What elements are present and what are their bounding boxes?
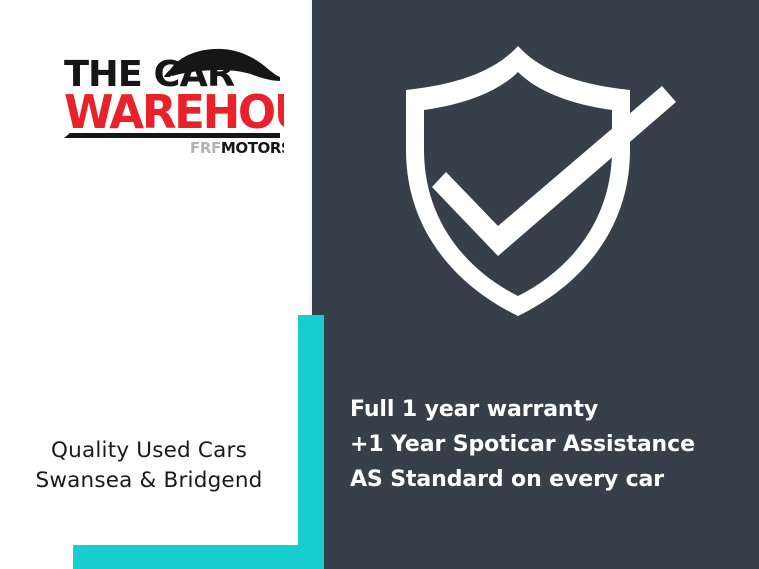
logo-line2: WAREHOUSE (64, 85, 284, 139)
logo-subtext: FRFMOTORS (190, 139, 284, 156)
dealer-promo-banner: THE CAR WAREHOUSE FRFMOTORS THE CAR WARE… (0, 0, 759, 569)
warranty-line-1: Full 1 year warranty (350, 392, 750, 427)
teal-accent-vertical (298, 315, 324, 569)
teal-accent-notch (0, 315, 298, 545)
teal-accent-horizontal (73, 545, 313, 569)
teal-accent-notch-lower (0, 545, 73, 569)
warranty-text: Full 1 year warranty +1 Year Spoticar As… (350, 392, 750, 497)
the-car-warehouse-logo: THE CAR WAREHOUSE FRFMOTORS (64, 38, 284, 156)
warranty-line-2: +1 Year Spoticar Assistance (350, 427, 750, 462)
warranty-line-3: AS Standard on every car (350, 462, 750, 497)
logo-sub-motors: MOTORS (221, 139, 284, 156)
tagline: Quality Used Cars Swansea & Bridgend (0, 436, 298, 496)
tagline-line-1: Quality Used Cars (0, 436, 298, 466)
tagline-line-2: Swansea & Bridgend (0, 466, 298, 496)
shield-check-icon (390, 44, 680, 324)
logo-underline (64, 133, 280, 138)
logo-sub-frf: FRF (190, 139, 221, 156)
